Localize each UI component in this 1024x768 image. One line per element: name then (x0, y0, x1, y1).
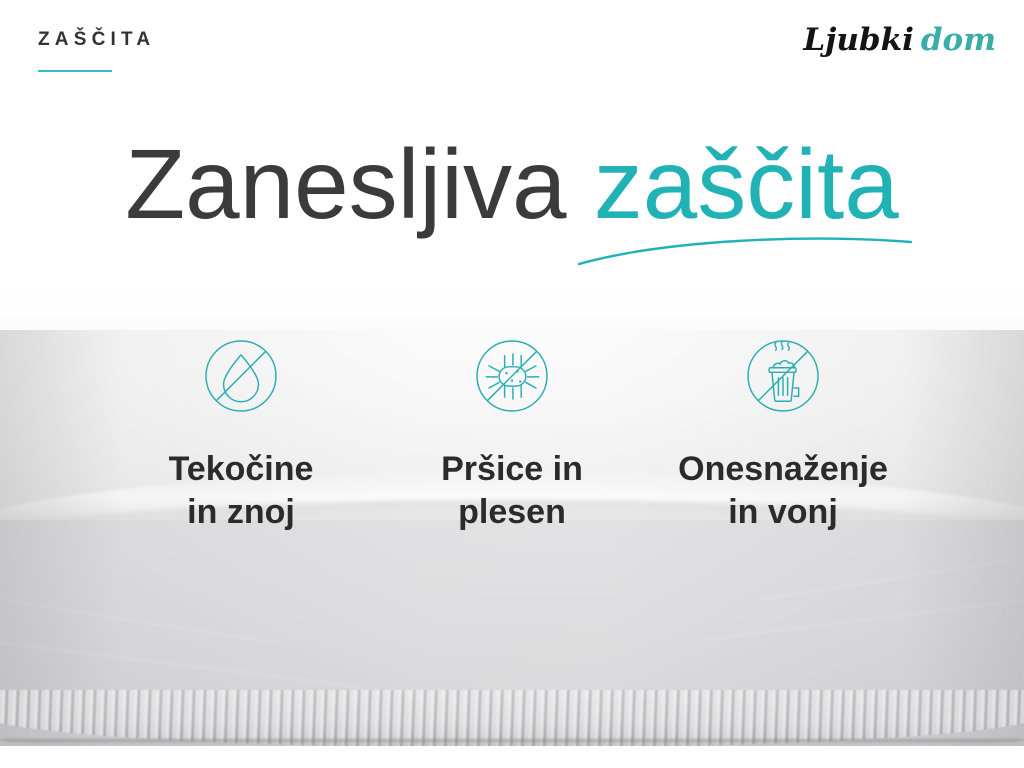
feature-label: Pršice in plesen (397, 448, 627, 534)
eyebrow-label: ZAŠČITA (38, 30, 155, 49)
brand-name-secondary: dom (921, 22, 996, 58)
no-dust-mite-icon (466, 330, 558, 422)
no-liquid-droplet-icon (195, 330, 287, 422)
brand-name-primary: Ljubki (803, 22, 913, 58)
feature-label: Tekočine in znoj (126, 448, 356, 534)
slide-root: ZAŠČITA Ljubkidom Zanesljiva zaščita Tek… (0, 0, 1024, 768)
features-row: Tekočine in znoj (112, 330, 912, 534)
feature-item: Pršice in plesen (383, 330, 641, 534)
no-odor-bin-icon (737, 330, 829, 422)
floor-strip (0, 746, 1024, 768)
headline-part-two: zaščita (594, 129, 899, 239)
headline-part-one: Zanesljiva (125, 129, 566, 239)
feature-label: Onesnaženje in vonj (633, 448, 933, 534)
brand-logo: Ljubkidom (803, 25, 996, 56)
page-title: Zanesljiva zaščita (0, 133, 1024, 236)
eyebrow-underline (38, 70, 112, 72)
section-eyebrow: ZAŠČITA (38, 30, 155, 72)
feature-item: Tekočine in znoj (112, 330, 370, 534)
feature-item: Onesnaženje in vonj (654, 330, 912, 534)
